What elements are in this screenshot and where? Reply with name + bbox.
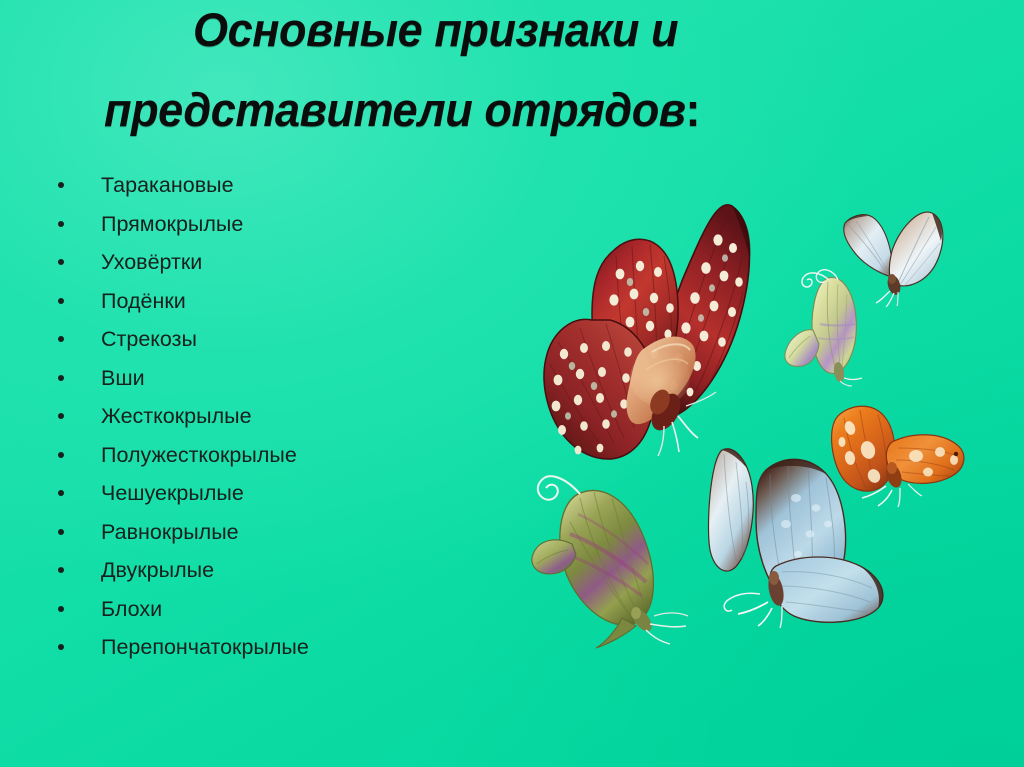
bullet-icon <box>58 567 64 573</box>
bullet-icon <box>58 298 64 304</box>
list-item: Уховёртки <box>46 243 516 282</box>
list-item-label: Перепончатокрылые <box>101 635 309 659</box>
list-item: Подёнки <box>46 282 516 321</box>
list-item-label: Вши <box>101 366 145 390</box>
list-item-label: Таракановые <box>101 173 234 197</box>
list-item: Вши <box>46 359 516 398</box>
list-item-label: Чешуекрылые <box>101 481 244 505</box>
bullet-icon <box>58 490 64 496</box>
list-item: Полужесткокрылые <box>46 436 516 475</box>
page-title-line-1: Основные признаки и <box>193 2 678 58</box>
list-item-label: Равнокрылые <box>101 520 239 544</box>
bullet-icon <box>58 644 64 650</box>
slide-canvas: Основные признаки и представители отрядо… <box>0 0 1024 767</box>
list-item-label: Полужесткокрылые <box>101 443 297 467</box>
list-item: Прямокрылые <box>46 205 516 244</box>
list-item: Стрекозы <box>46 320 516 359</box>
orange-butterfly-icon <box>816 398 976 513</box>
page-title-line-2-text: представители отрядов <box>104 83 686 136</box>
list-item: Жесткокрылые <box>46 397 516 436</box>
page-title-line-2: представители отрядов: <box>104 82 700 138</box>
pale-blue-butterfly-icon <box>828 205 958 315</box>
list-item-label: Подёнки <box>101 289 186 313</box>
bullet-icon <box>58 336 64 342</box>
list-item-label: Уховёртки <box>101 250 202 274</box>
list-item: Чешуекрылые <box>46 474 516 513</box>
list-item-label: Двукрылые <box>101 558 214 582</box>
list-item: Равнокрылые <box>46 513 516 552</box>
bullet-icon <box>58 221 64 227</box>
bullet-icon <box>58 259 64 265</box>
butterfly-cluster-illustration <box>508 190 1024 660</box>
bullet-icon <box>58 413 64 419</box>
list-item: Таракановые <box>46 166 516 205</box>
page-title: Основные признаки и представители отрядо… <box>0 0 1024 152</box>
list-item: Перепончатокрылые <box>46 628 516 667</box>
bullet-icon <box>58 452 64 458</box>
bullet-icon <box>58 375 64 381</box>
olive-butterfly-icon <box>526 468 706 648</box>
list-item-label: Прямокрылые <box>101 212 243 236</box>
list-item-label: Стрекозы <box>101 327 197 351</box>
pale-green-butterfly-icon <box>776 268 906 388</box>
list-item-label: Блохи <box>101 597 162 621</box>
page-title-colon: : <box>686 83 701 136</box>
bullet-icon <box>58 529 64 535</box>
list-item: Блохи <box>46 590 516 629</box>
list-item-label: Жесткокрылые <box>101 404 252 428</box>
list-item: Двукрылые <box>46 551 516 590</box>
blue-butterfly-icon <box>704 442 914 632</box>
bullet-icon <box>58 182 64 188</box>
red-butterfly-icon <box>536 200 796 480</box>
bullet-icon <box>58 606 64 612</box>
insect-orders-list: Таракановые Прямокрылые Уховёртки Подёнк… <box>46 166 516 667</box>
